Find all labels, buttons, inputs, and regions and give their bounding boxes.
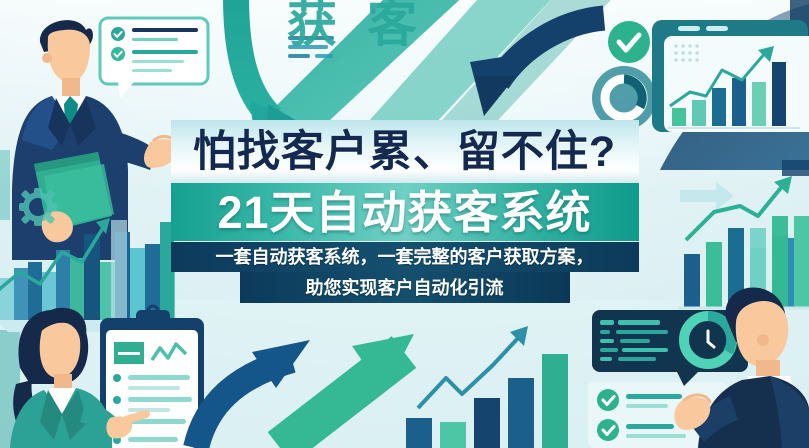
headline-line2-band: 21天自动获客系统 <box>171 183 639 241</box>
subtitle-line1-band: 一套自动获客系统，一套完整的客户获取方案， <box>171 242 639 272</box>
subtitle-line2-band: 助您实现客户自动化引流 <box>240 272 570 303</box>
subtitle-line1: 一套自动获客系统，一套完整的客户获取方案， <box>216 248 594 266</box>
headline-stack: 怕找客户累、留不住? 21天自动获客系统 一套自动获客系统，一套完整的客户获取方… <box>0 120 809 303</box>
subtitle-line2: 助您实现客户自动化引流 <box>306 279 504 297</box>
headline-line2: 21天自动获客系统 <box>217 190 591 235</box>
top-clipped-characters: 获客 <box>287 0 447 56</box>
analytics-dark-panel <box>592 310 748 386</box>
headline-line1: 怕找客户累、留不住? <box>193 131 616 174</box>
headline-line1-band: 怕找客户累、留不住? <box>171 120 639 184</box>
marketing-poster: 获客 <box>0 0 809 448</box>
